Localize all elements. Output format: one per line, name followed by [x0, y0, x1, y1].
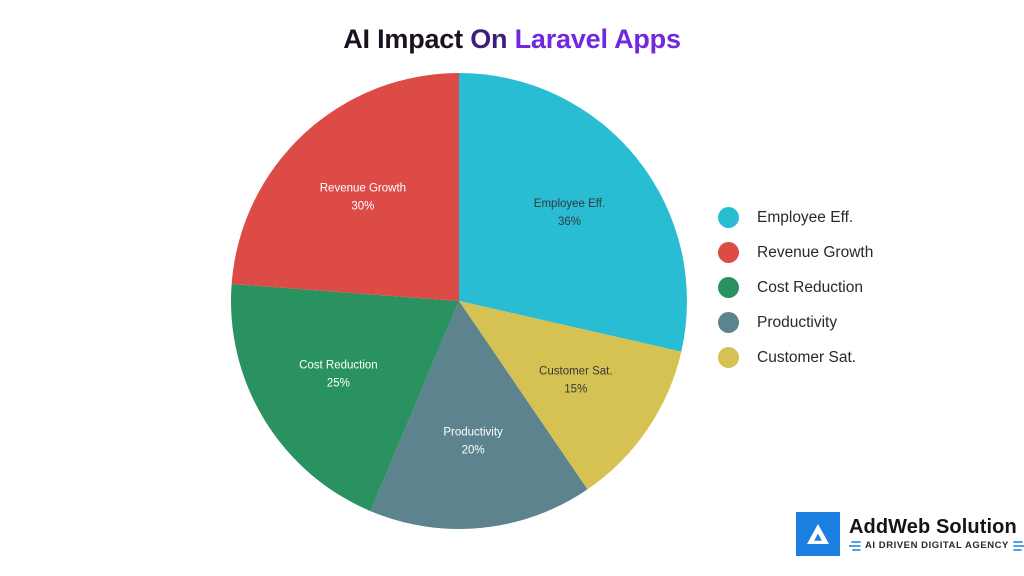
brand-name: AddWeb Solution	[849, 517, 1024, 538]
page-title-part-primary: AI Impact	[343, 24, 463, 54]
pie-slice-value: 15%	[564, 384, 587, 396]
brand-logo-text: AddWeb Solution AI DRIVEN DIGITAL AGENCY	[849, 517, 1024, 551]
legend-label: Cost Reduction	[757, 279, 863, 297]
legend-swatch-icon	[718, 347, 739, 368]
pie-slice-value: 25%	[327, 378, 350, 390]
legend-swatch-icon	[718, 207, 739, 228]
legend-item[interactable]: Productivity	[718, 305, 968, 340]
pie-slice-label: Productivity	[443, 427, 503, 439]
legend-swatch-icon	[718, 277, 739, 298]
legend-item[interactable]: Cost Reduction	[718, 270, 968, 305]
legend-swatch-icon	[718, 312, 739, 333]
chart-legend: Employee Eff.Revenue GrowthCost Reductio…	[718, 200, 968, 375]
legend-label: Employee Eff.	[757, 209, 853, 227]
legend-label: Productivity	[757, 314, 837, 332]
page-title-part-accent: Laravel Apps	[515, 24, 681, 54]
speed-lines-right-icon	[1013, 541, 1024, 551]
legend-swatch-icon	[718, 242, 739, 263]
pie-chart-svg: Employee Eff.36%Customer Sat.15%Producti…	[228, 70, 690, 532]
pie-slice-label: Employee Eff.	[534, 198, 605, 210]
pie-chart: Employee Eff.36%Customer Sat.15%Producti…	[228, 70, 690, 532]
pie-slice-value: 20%	[462, 445, 485, 457]
pie-slice-label: Customer Sat.	[539, 366, 613, 378]
pie-slice-group	[231, 73, 687, 529]
legend-label: Customer Sat.	[757, 349, 856, 367]
pie-slice-value: 36%	[558, 216, 581, 228]
legend-item[interactable]: Customer Sat.	[718, 340, 968, 375]
brand-logo: AddWeb Solution AI DRIVEN DIGITAL AGENCY	[796, 512, 1024, 556]
pie-slice-label: Revenue Growth	[320, 182, 406, 194]
brand-tagline-row: AI DRIVEN DIGITAL AGENCY	[849, 540, 1024, 551]
page-title: AI Impact On Laravel Apps	[0, 24, 1024, 55]
pie-slice-label: Cost Reduction	[299, 360, 378, 372]
legend-item[interactable]: Revenue Growth	[718, 235, 968, 270]
addweb-a-mark-icon	[796, 512, 840, 556]
brand-tagline: AI DRIVEN DIGITAL AGENCY	[865, 540, 1009, 551]
page-title-part-middle: On	[463, 24, 515, 54]
legend-item[interactable]: Employee Eff.	[718, 200, 968, 235]
speed-lines-left-icon	[849, 541, 861, 551]
legend-label: Revenue Growth	[757, 244, 873, 262]
pie-slice-value: 30%	[351, 200, 374, 212]
